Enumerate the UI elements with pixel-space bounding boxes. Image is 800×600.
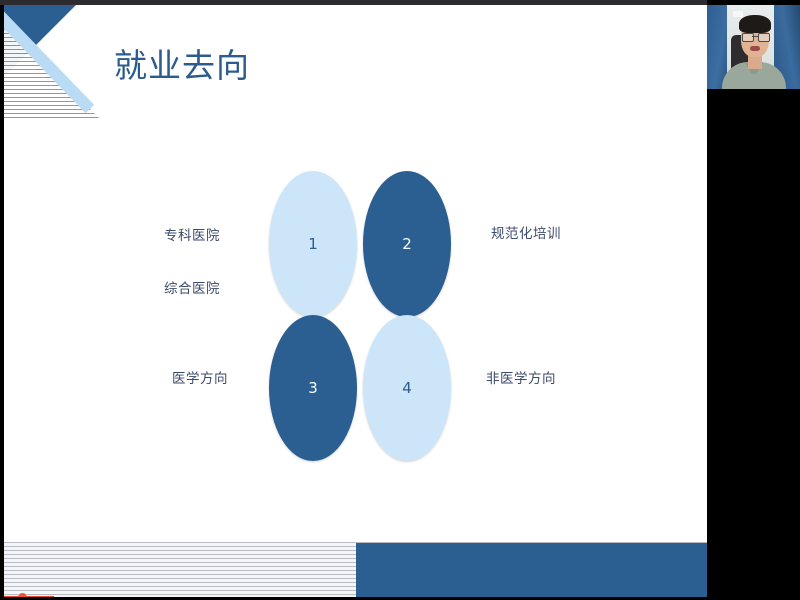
oval-item-3: 3: [269, 315, 357, 461]
presentation-slide: 就业去向 1 2 3 4 专科医院 综合医院 医学方向 规范化培训 非医学方向: [4, 5, 707, 597]
pointer-line: [4, 596, 54, 597]
cam-wall-paper: [733, 11, 743, 17]
oval-item-4: 4: [363, 315, 451, 461]
four-oval-diagram: 1 2 3 4 专科医院 综合医院 医学方向 规范化培训 非医学方向: [4, 5, 707, 597]
oval-item-2: 2: [363, 171, 451, 317]
bottom-blue-bar: [356, 543, 707, 597]
label-standardized-training: 规范化培训: [491, 222, 561, 242]
laser-pointer-mark: [4, 593, 62, 597]
cam-hair: [739, 15, 771, 33]
cam-glasses-left-lens: [742, 33, 754, 42]
cam-glasses-right-lens: [758, 33, 770, 42]
oval-number-2: 2: [402, 235, 412, 253]
cam-mouth: [750, 46, 760, 51]
label-medical-direction: 医学方向: [172, 367, 228, 387]
label-specialized-hospital: 专科医院: [164, 224, 220, 244]
oval-item-1: 1: [269, 171, 357, 317]
pointer-dot: [18, 593, 27, 597]
oval-number-1: 1: [308, 235, 318, 253]
label-non-medical-direction: 非医学方向: [486, 367, 556, 387]
oval-number-3: 3: [308, 379, 318, 397]
webcam-panel[interactable]: [707, 0, 800, 600]
cam-glasses-bridge: [752, 36, 758, 37]
label-general-hospital: 综合医院: [164, 277, 220, 297]
presenter-webcam-feed[interactable]: [707, 5, 800, 89]
screen-share-window: 就业去向 1 2 3 4 专科医院 综合医院 医学方向 规范化培训 非医学方向: [0, 0, 800, 600]
oval-number-4: 4: [402, 379, 412, 397]
